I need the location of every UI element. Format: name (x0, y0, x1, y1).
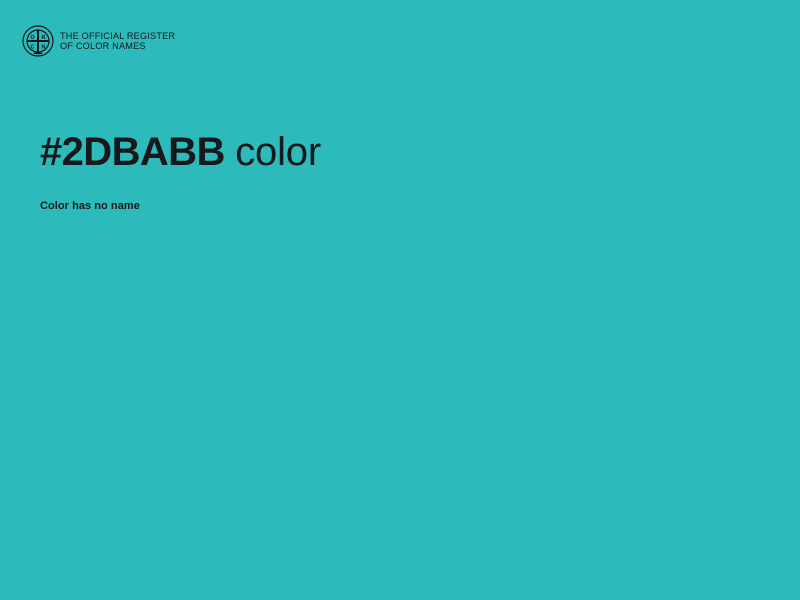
svg-text:R: R (42, 35, 46, 41)
brand-wordmark: THE OFFICIAL REGISTER OF COLOR NAMES (60, 31, 175, 52)
headline-block: #2DBABB color (40, 126, 760, 178)
svg-text:C: C (31, 45, 35, 51)
color-name-status: Color has no name (40, 199, 140, 213)
color-page: O R C N THE OFFICIAL REGISTER OF COLOR N… (0, 0, 800, 600)
page-title-hex: #2DBABB (40, 130, 225, 174)
page-title-suffix: color (235, 130, 321, 174)
brand-logo[interactable]: O R C N THE OFFICIAL REGISTER OF COLOR N… (22, 25, 175, 57)
brand-line-1: THE OFFICIAL REGISTER (60, 31, 175, 41)
svg-text:O: O (30, 35, 35, 41)
page-title: #2DBABB color (40, 126, 760, 178)
brand-line-2: OF COLOR NAMES (60, 41, 175, 51)
register-seal-icon: O R C N (22, 25, 54, 57)
svg-text:N: N (42, 45, 46, 51)
